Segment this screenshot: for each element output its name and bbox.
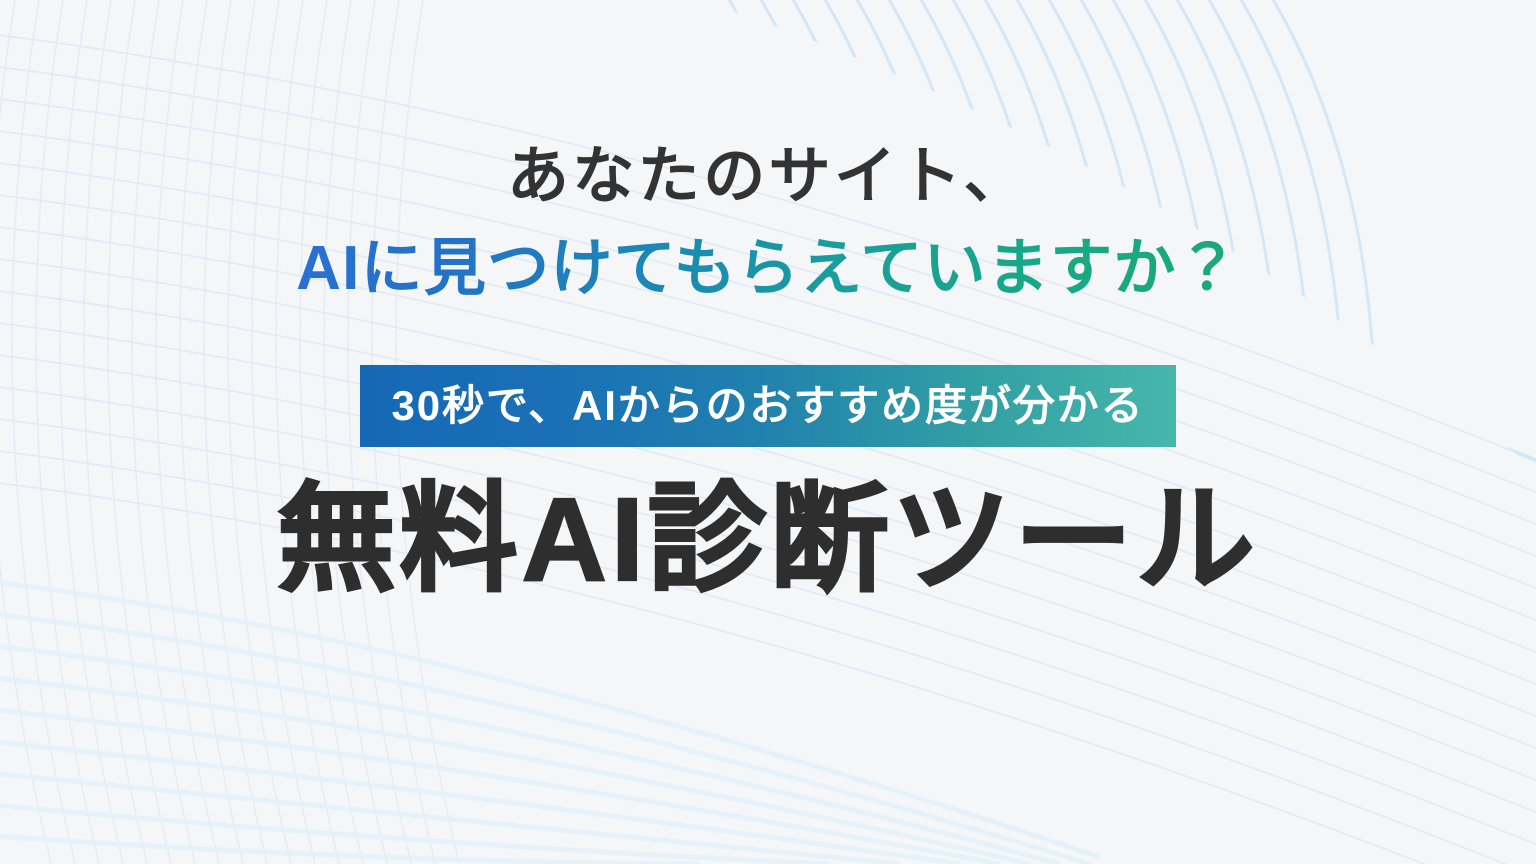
main-title: 無料AI診断ツール — [277, 477, 1258, 604]
slide-canvas: あなたのサイト、 AIに見つけてもらえていますか？ 30秒で、AIからのおすすめ… — [0, 0, 1536, 864]
slide-content: あなたのサイト、 AIに見つけてもらえていますか？ 30秒で、AIからのおすすめ… — [0, 0, 1536, 864]
headline-line-2: AIに見つけてもらえていますか？ — [296, 235, 1240, 303]
feature-banner: 30秒で、AIからのおすすめ度が分かる — [360, 365, 1177, 447]
headline-line-1: あなたのサイト、 — [507, 143, 1029, 211]
feature-banner-label: 30秒で、AIからのおすすめ度が分かる — [392, 385, 1145, 427]
